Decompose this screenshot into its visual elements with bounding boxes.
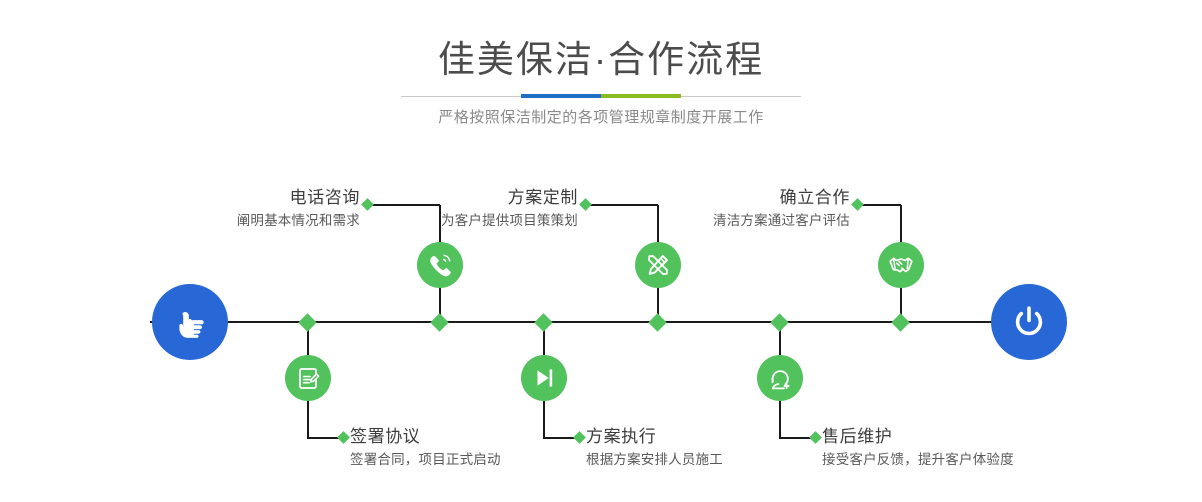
document-pencil-icon	[295, 365, 322, 392]
timeline-start-cap	[152, 284, 228, 360]
step-3-axis-marker	[648, 313, 666, 331]
step-1-icon-bubble[interactable]	[417, 242, 463, 288]
step-6-stem-lower	[779, 401, 781, 438]
page-title: 佳美保洁·合作流程	[0, 38, 1202, 82]
power-icon	[1007, 300, 1051, 344]
step-6-icon-bubble[interactable]	[757, 355, 803, 401]
step-5-label-marker	[851, 198, 864, 211]
step-2-label-marker	[337, 431, 350, 444]
step-6-title: 售后维护	[822, 425, 1122, 449]
step-5-elbow	[858, 204, 901, 206]
step-1-label: 电话咨询 阐明基本情况和需求	[140, 186, 360, 232]
step-5-stem-upper	[900, 205, 902, 242]
step-3-label-marker	[579, 198, 592, 211]
step-1-title: 电话咨询	[140, 186, 360, 210]
step-5-desc: 清洁方案通过客户评估	[628, 210, 850, 232]
step-1-axis-marker	[430, 313, 448, 331]
page-subtitle: 严格按照保洁制定的各项管理规章制度开展工作	[0, 107, 1202, 129]
step-2-desc: 签署合同，项目正式启动	[350, 449, 610, 471]
step-3-icon-bubble[interactable]	[635, 242, 681, 288]
step-6-desc: 接受客户反馈，提升客户体验度	[822, 449, 1122, 471]
step-4-icon-bubble[interactable]	[521, 355, 567, 401]
step-5-title: 确立合作	[628, 186, 850, 210]
step-3-title: 方案定制	[358, 186, 578, 210]
step-4-stem-lower	[543, 401, 545, 438]
step-2-icon-bubble[interactable]	[285, 355, 331, 401]
step-3-label: 方案定制 为客户提供项目策策划	[358, 186, 578, 232]
step-4-desc: 根据方案安排人员施工	[586, 449, 846, 471]
play-skip-icon	[531, 365, 557, 391]
step-4-axis-marker	[534, 313, 552, 331]
step-2-stem-lower	[307, 401, 309, 438]
step-2-axis-marker	[298, 313, 316, 331]
step-1-desc: 阐明基本情况和需求	[140, 210, 360, 232]
timeline-end-cap	[991, 284, 1067, 360]
step-3-desc: 为客户提供项目策策划	[358, 210, 578, 232]
pencil-ruler-icon	[644, 251, 672, 279]
step-5-label: 确立合作 清洁方案通过客户评估	[628, 186, 850, 232]
step-2-label: 签署协议 签署合同，项目正式启动	[350, 425, 610, 471]
pointing-hand-icon	[169, 301, 211, 343]
divider-segment-green	[601, 94, 681, 98]
handshake-icon	[887, 251, 915, 279]
step-6-label: 售后维护 接受客户反馈，提升客户体验度	[822, 425, 1122, 471]
title-divider	[401, 94, 801, 98]
step-4-label: 方案执行 根据方案安排人员施工	[586, 425, 846, 471]
divider-segment-blue	[521, 94, 601, 98]
step-5-icon-bubble[interactable]	[878, 242, 924, 288]
step-6-axis-marker	[770, 313, 788, 331]
process-flow-infographic: 佳美保洁·合作流程 严格按照保洁制定的各项管理规章制度开展工作	[0, 0, 1202, 502]
step-5-axis-marker	[891, 313, 909, 331]
phone-call-icon	[426, 251, 454, 279]
headset-support-icon	[767, 365, 794, 392]
